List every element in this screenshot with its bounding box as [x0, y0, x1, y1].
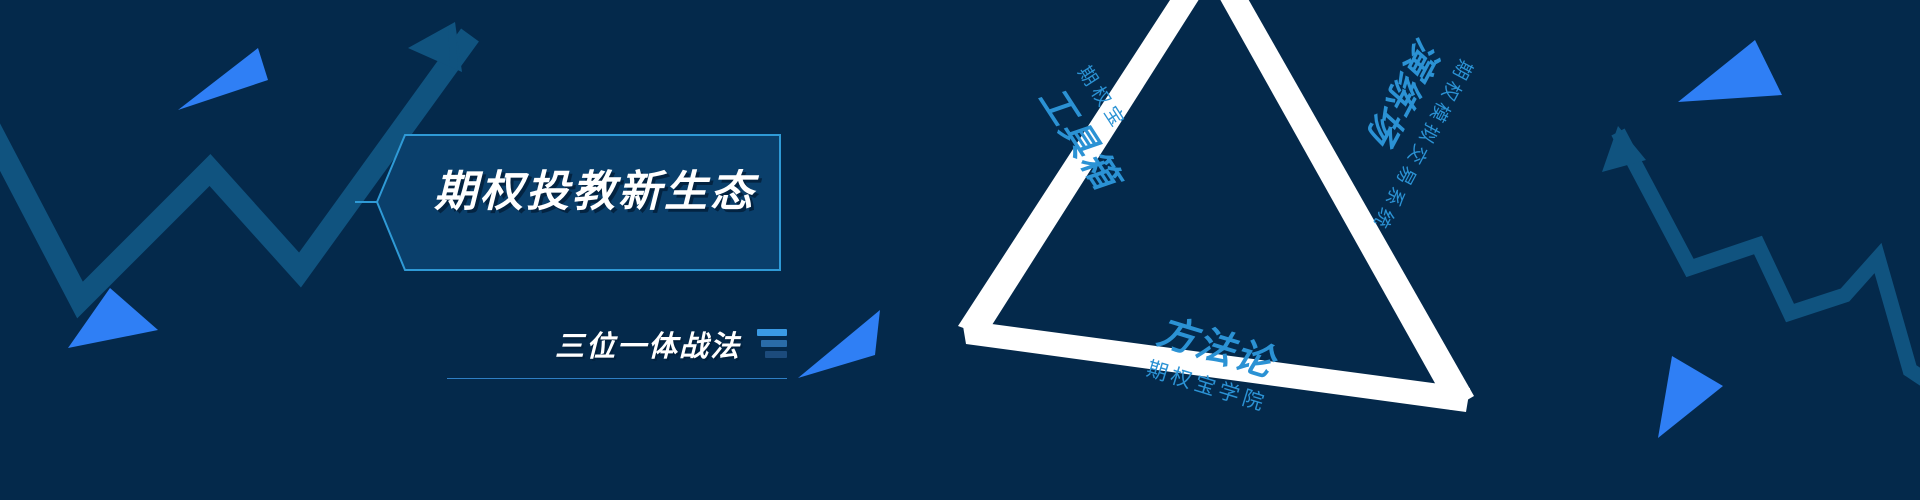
background-decorations: [0, 0, 1920, 500]
subtitle-divider: [447, 378, 787, 379]
chart-arrow-left-tip: [448, 22, 458, 70]
three-bars-icon: [757, 329, 787, 360]
page-title: 期权投教新生态: [410, 157, 780, 219]
chart-zigzag-right: [1618, 132, 1920, 380]
three-bars-icon-bar-3: [765, 351, 787, 358]
accent-triangle-top-left: [178, 48, 268, 110]
three-bars-icon-bar-1: [757, 329, 787, 336]
chart-arrow-right: [1602, 126, 1646, 172]
promo-banner: 期权宝 工具箱 期权模拟交易系统 演练场 方法论 期权宝学院 期权投教新生态 三…: [0, 0, 1920, 500]
background-fill: [0, 0, 1920, 500]
accent-triangle-bottom-left: [68, 288, 158, 348]
accent-triangle-bottom-right: [1658, 356, 1723, 438]
triangle-diagram: [0, 0, 1920, 500]
triangle-label-toolbox[interactable]: 期权宝 工具箱: [1029, 60, 1157, 199]
triangle-label-method[interactable]: 方法论 期权宝学院: [1143, 300, 1287, 418]
accent-triangle-top-right: [1678, 40, 1782, 102]
subtitle-row: 三位一体战法: [447, 315, 787, 373]
title-panel: 期权投教新生态: [355, 130, 785, 275]
accent-triangle-center-bottom: [798, 310, 880, 378]
triangle-label-arena[interactable]: 期权模拟交易系统 演练场: [1320, 31, 1480, 238]
subtitle-text: 三位一体战法: [555, 323, 741, 365]
three-bars-icon-bar-2: [761, 340, 787, 347]
chart-arrow-left: [408, 22, 462, 72]
